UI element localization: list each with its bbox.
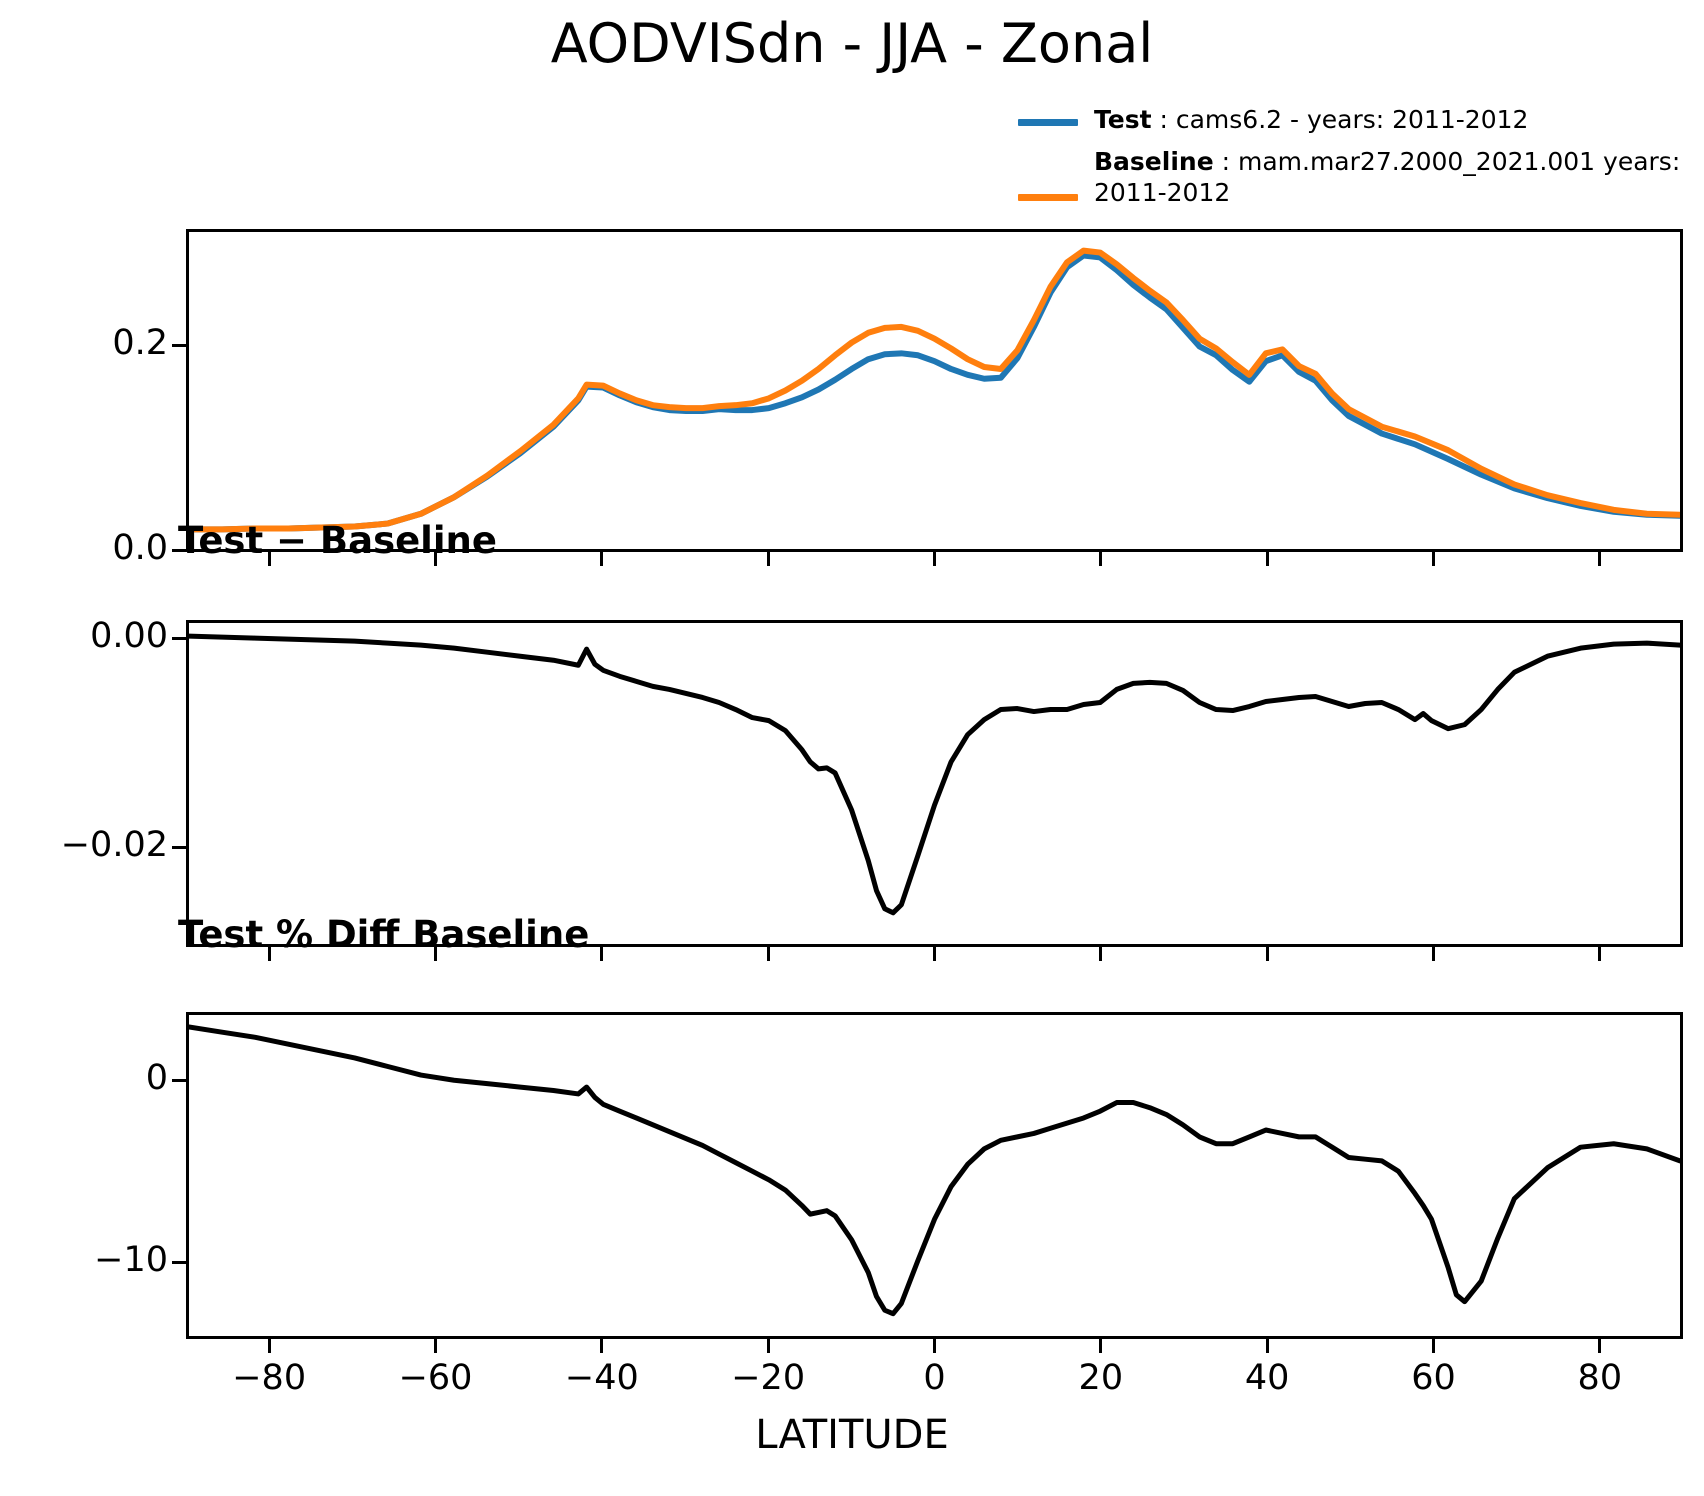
xtickmark-1-8 (1598, 947, 1601, 961)
legend-name-baseline: Baseline (1094, 147, 1214, 176)
xtick-label-4: 0 (855, 1358, 1015, 1398)
data-line-test-baseline (189, 636, 1680, 913)
xtickmark-1-6 (1266, 947, 1269, 961)
xtick-label-5: 20 (1021, 1358, 1181, 1398)
chart-panel-bottom (186, 1012, 1683, 1339)
ytickmark-bottom-1 (172, 1261, 186, 1264)
xtick-label-3: −20 (688, 1358, 848, 1398)
data-line-test-diff-baseline (189, 1027, 1680, 1314)
xtickmark-0-2 (600, 552, 603, 566)
xtickmark-2-3 (767, 1339, 770, 1353)
ytickmark-top-0 (172, 344, 186, 347)
ytick-bottom-0: 0 (40, 1058, 168, 1098)
chart-panel-middle (186, 620, 1683, 947)
plot-area-top (189, 232, 1680, 549)
xtickmark-2-2 (600, 1339, 603, 1353)
xtickmark-0-1 (434, 552, 437, 566)
xtick-label-0: −80 (189, 1358, 349, 1398)
xtickmark-0-6 (1266, 552, 1269, 566)
xtick-label-7: 60 (1354, 1358, 1514, 1398)
plot-area-bottom (189, 1015, 1680, 1336)
ytickmark-bottom-0 (172, 1079, 186, 1082)
xtickmark-1-2 (600, 947, 603, 961)
data-line-baseline (189, 251, 1680, 530)
legend-item-test: Test : cams6.2 - years: 2011-2012 (1018, 104, 1688, 146)
xtickmark-2-7 (1432, 1339, 1435, 1353)
xtickmark-1-4 (933, 947, 936, 961)
xtickmark-0-5 (1099, 552, 1102, 566)
xtickmark-2-6 (1266, 1339, 1269, 1353)
xtickmark-2-8 (1598, 1339, 1601, 1353)
xtick-label-6: 40 (1187, 1358, 1347, 1398)
xtickmark-1-5 (1099, 947, 1102, 961)
xtickmark-0-0 (268, 552, 271, 566)
page-title: AODVISdn - JJA - Zonal (0, 12, 1704, 75)
xtickmark-1-1 (434, 947, 437, 961)
xtick-label-1: −60 (356, 1358, 516, 1398)
xtickmark-0-3 (767, 552, 770, 566)
data-line-test (189, 255, 1680, 529)
legend-name-test: Test (1094, 105, 1152, 134)
xtickmark-2-0 (268, 1339, 271, 1353)
xaxis-label: LATITUDE (0, 1412, 1704, 1458)
legend: Test : cams6.2 - years: 2011-2012 Baseli… (1018, 104, 1688, 216)
ytick-top-1: 0.0 (40, 528, 168, 568)
xtickmark-0-7 (1432, 552, 1435, 566)
xtick-label-2: −40 (522, 1358, 682, 1398)
xtickmark-1-7 (1432, 947, 1435, 961)
plot-area-middle (189, 623, 1680, 944)
legend-swatch-test (1018, 119, 1078, 126)
ytick-middle-0: 0.00 (20, 616, 168, 656)
xtickmark-2-4 (933, 1339, 936, 1353)
legend-label-test: Test : cams6.2 - years: 2011-2012 (1094, 104, 1688, 135)
xtickmark-2-5 (1099, 1339, 1102, 1353)
ytick-bottom-1: −10 (40, 1240, 168, 1280)
ytickmark-middle-1 (172, 846, 186, 849)
ytick-top-0: 0.2 (40, 323, 168, 363)
figure-canvas: AODVISdn - JJA - Zonal Test : cams6.2 - … (0, 0, 1704, 1496)
legend-sep-test: : (1152, 105, 1176, 134)
legend-item-baseline: Baseline : mam.mar27.2000_2021.001 years… (1018, 146, 1688, 216)
xtickmark-0-8 (1598, 552, 1601, 566)
panel-bottom-subtitle: Test % Diff Baseline (178, 913, 589, 956)
ytick-middle-1: −0.02 (20, 825, 168, 865)
legend-label-baseline: Baseline : mam.mar27.2000_2021.001 years… (1094, 146, 1688, 208)
legend-swatch-baseline (1018, 194, 1078, 201)
panel-middle-subtitle: Test − Baseline (178, 519, 497, 562)
legend-desc-test: cams6.2 - years: 2011-2012 (1176, 105, 1529, 134)
xtickmark-1-0 (268, 947, 271, 961)
xtick-label-8: 80 (1520, 1358, 1680, 1398)
legend-sep-baseline: : (1214, 147, 1238, 176)
xtickmark-0-4 (933, 552, 936, 566)
chart-panel-top (186, 229, 1683, 552)
xtickmark-1-3 (767, 947, 770, 961)
xtickmark-2-1 (434, 1339, 437, 1353)
ytickmark-middle-0 (172, 637, 186, 640)
